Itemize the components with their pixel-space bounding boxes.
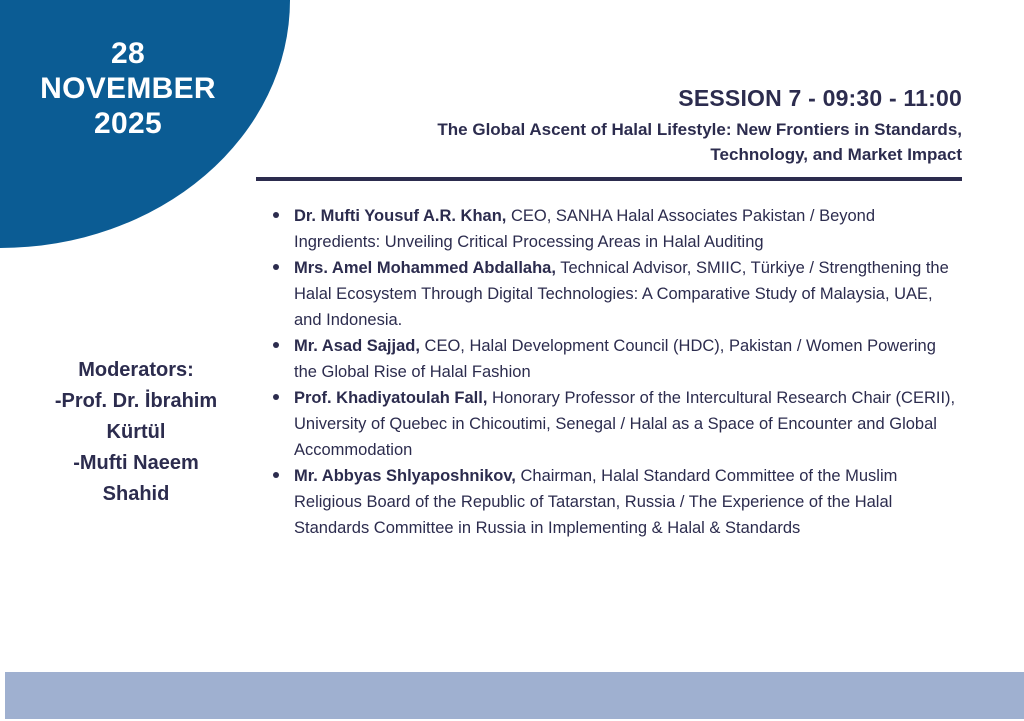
- moderators-block: Moderators: -Prof. Dr. İbrahim Kürtül -M…: [10, 355, 262, 510]
- moderator-1-line-1: -Prof. Dr. İbrahim: [10, 386, 262, 417]
- bullet-icon: [273, 342, 279, 348]
- speaker-list-item: Mrs. Amel Mohammed Abdallaha, Technical …: [268, 255, 958, 333]
- event-date: 28 NOVEMBER 2025: [8, 36, 248, 141]
- header-divider-rule: [256, 177, 962, 181]
- slide-canvas: 28 NOVEMBER 2025 SESSION 7 - 09:30 - 11:…: [0, 0, 1024, 721]
- speaker-name: Prof. Khadiyatoulah Fall,: [294, 389, 487, 407]
- speaker-name: Dr. Mufti Yousuf A.R. Khan,: [294, 207, 506, 225]
- bullet-icon: [273, 394, 279, 400]
- moderator-2-line-2: Shahid: [10, 479, 262, 510]
- speaker-name: Mr. Asad Sajjad,: [294, 337, 420, 355]
- session-title: SESSION 7 - 09:30 - 11:00: [262, 84, 962, 112]
- speaker-list-item: Prof. Khadiyatoulah Fall, Honorary Profe…: [268, 385, 958, 463]
- event-date-month: NOVEMBER: [8, 71, 248, 106]
- bullet-icon: [273, 212, 279, 218]
- bullet-icon: [273, 264, 279, 270]
- speaker-name: Mrs. Amel Mohammed Abdallaha,: [294, 259, 556, 277]
- event-date-year: 2025: [8, 106, 248, 141]
- bullet-icon: [273, 472, 279, 478]
- speaker-list-item: Mr. Abbyas Shlyaposhnikov, Chairman, Hal…: [268, 463, 958, 541]
- session-subtitle: The Global Ascent of Halal Lifestyle: Ne…: [262, 117, 962, 167]
- speaker-name: Mr. Abbyas Shlyaposhnikov,: [294, 467, 516, 485]
- speaker-list-item: Dr. Mufti Yousuf A.R. Khan, CEO, SANHA H…: [268, 203, 958, 255]
- moderators-heading: Moderators:: [10, 355, 262, 386]
- speaker-list-item: Mr. Asad Sajjad, CEO, Halal Development …: [268, 333, 958, 385]
- session-subtitle-line-2: Technology, and Market Impact: [262, 142, 962, 167]
- session-subtitle-line-1: The Global Ascent of Halal Lifestyle: Ne…: [262, 117, 962, 142]
- moderator-1-line-2: Kürtül: [10, 417, 262, 448]
- event-date-day: 28: [8, 36, 248, 71]
- moderator-2-line-1: -Mufti Naeem: [10, 448, 262, 479]
- speaker-list: Dr. Mufti Yousuf A.R. Khan, CEO, SANHA H…: [268, 203, 958, 541]
- session-header: SESSION 7 - 09:30 - 11:00 The Global Asc…: [262, 84, 962, 167]
- footer-band: [5, 672, 1024, 719]
